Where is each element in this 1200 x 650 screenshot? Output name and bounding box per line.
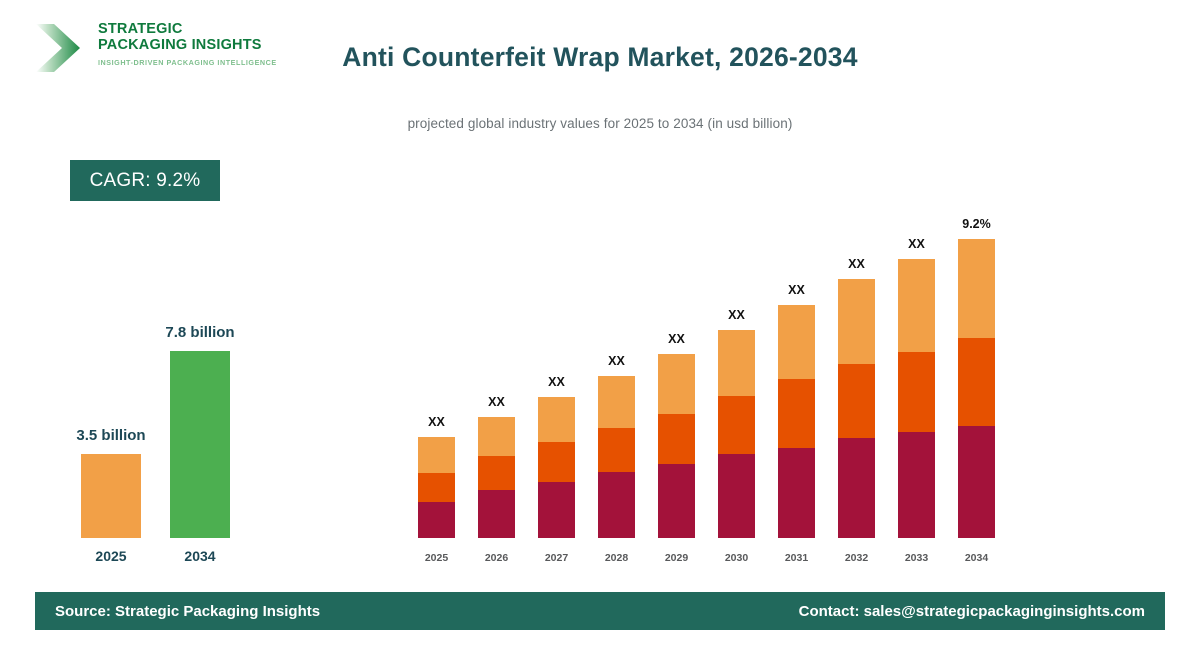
bar-year-label-2027: 2027 [526,552,587,564]
bar-segment-segment-3-2033 [898,259,935,352]
bar-top-label-2030: XX [698,308,775,322]
bar-2025[interactable] [81,454,141,538]
footer-source: Source: Strategic Packaging Insights [55,592,320,630]
bar-segment-segment-1-2026 [478,490,515,538]
bar-segment-segment-3-2032 [838,279,875,364]
bar-year-label-2031: 2031 [766,552,827,564]
cagr-badge: CAGR: 9.2% [70,160,220,201]
bar-segment-segment-3-2027 [538,397,575,442]
bar-segment-segment-2-2027 [538,442,575,482]
bar-year-label-2028: 2028 [586,552,647,564]
stacked-bar-2028[interactable] [598,376,635,538]
bar-year-label-2034: 2034 [946,552,1007,564]
stacked-bar-2029[interactable] [658,354,695,538]
bar-segment-segment-2-2033 [898,352,935,432]
bar-top-label-2026: XX [458,395,535,409]
bar-segment-segment-1-2034 [958,426,995,538]
bar-year-label-2034: 2034 [150,548,250,564]
page-subtitle: projected global industry values for 202… [180,116,1020,131]
stacked-bar-2027[interactable] [538,397,575,538]
comparison-bar-chart: 3.5 billion20257.8 billion2034 [40,300,290,570]
bar-value-label-2034: 7.8 billion [140,324,260,341]
bar-top-label-2032: XX [818,257,895,271]
bar-top-label-2027: XX [518,375,595,389]
bar-year-label-2025: 2025 [406,552,467,564]
stacked-bar-2033[interactable] [898,259,935,538]
bar-segment-segment-1-2029 [658,464,695,538]
bar-segment-segment-3-2028 [598,376,635,428]
stacked-bar-2032[interactable] [838,279,875,538]
bar-segment-segment-1-2030 [718,454,755,538]
stacked-bar-2031[interactable] [778,305,815,538]
bar-top-label-2034: 9.2% [938,217,1015,231]
bar-segment-segment-2-2030 [718,396,755,454]
bar-segment-segment-1-2025 [418,502,455,538]
bar-top-label-2025: XX [398,415,475,429]
bar-year-label-2032: 2032 [826,552,887,564]
bar-top-label-2031: XX [758,283,835,297]
bar-segment-segment-3-2029 [658,354,695,414]
bar-segment-segment-1-2028 [598,472,635,538]
bar-year-label-2026: 2026 [466,552,527,564]
bar-segment-segment-3-2031 [778,305,815,379]
bar-2034[interactable] [170,351,230,538]
bar-top-label-2028: XX [578,354,655,368]
bar-year-label-2029: 2029 [646,552,707,564]
bar-segment-segment-3-2030 [718,330,755,396]
bar-year-label-2025: 2025 [61,548,161,564]
bar-segment-segment-2-2029 [658,414,695,464]
bar-segment-segment-2-2028 [598,428,635,472]
bar-segment-segment-3-2034 [958,239,995,338]
bar-top-label-2033: XX [878,237,955,251]
bar-segment-segment-1-2032 [838,438,875,538]
bar-segment-segment-2-2031 [778,379,815,448]
chart-canvas: STRATEGIC PACKAGING INSIGHTS INSIGHT-DRI… [0,0,1200,650]
bar-segment-segment-1-2031 [778,448,815,538]
bar-segment-segment-1-2027 [538,482,575,538]
stacked-bar-2030[interactable] [718,330,755,538]
bar-segment-segment-3-2025 [418,437,455,473]
bar-segment-segment-2-2034 [958,338,995,426]
bar-segment-segment-1-2033 [898,432,935,538]
bar-year-label-2030: 2030 [706,552,767,564]
stacked-bar-2034[interactable] [958,239,995,538]
bar-segment-segment-2-2025 [418,473,455,502]
bar-value-label-2025: 3.5 billion [51,427,171,444]
page-title: Anti Counterfeit Wrap Market, 2026-2034 [180,42,1020,73]
bar-top-label-2029: XX [638,332,715,346]
bar-segment-segment-3-2026 [478,417,515,456]
footer-contact[interactable]: Contact: sales@strategicpackaginginsight… [799,592,1145,630]
green-chevron-icon [32,20,90,76]
footer-bar: Source: Strategic Packaging Insights Con… [35,592,1165,630]
bar-year-label-2033: 2033 [886,552,947,564]
bar-segment-segment-2-2032 [838,364,875,438]
bar-segment-segment-2-2026 [478,456,515,490]
stacked-bar-2025[interactable] [418,437,455,538]
stacked-bar-chart: XX2025XX2026XX2027XX2028XX2029XX2030XX20… [400,190,1030,570]
brand-line-1: STRATEGIC [98,22,277,38]
stacked-bar-2026[interactable] [478,417,515,538]
